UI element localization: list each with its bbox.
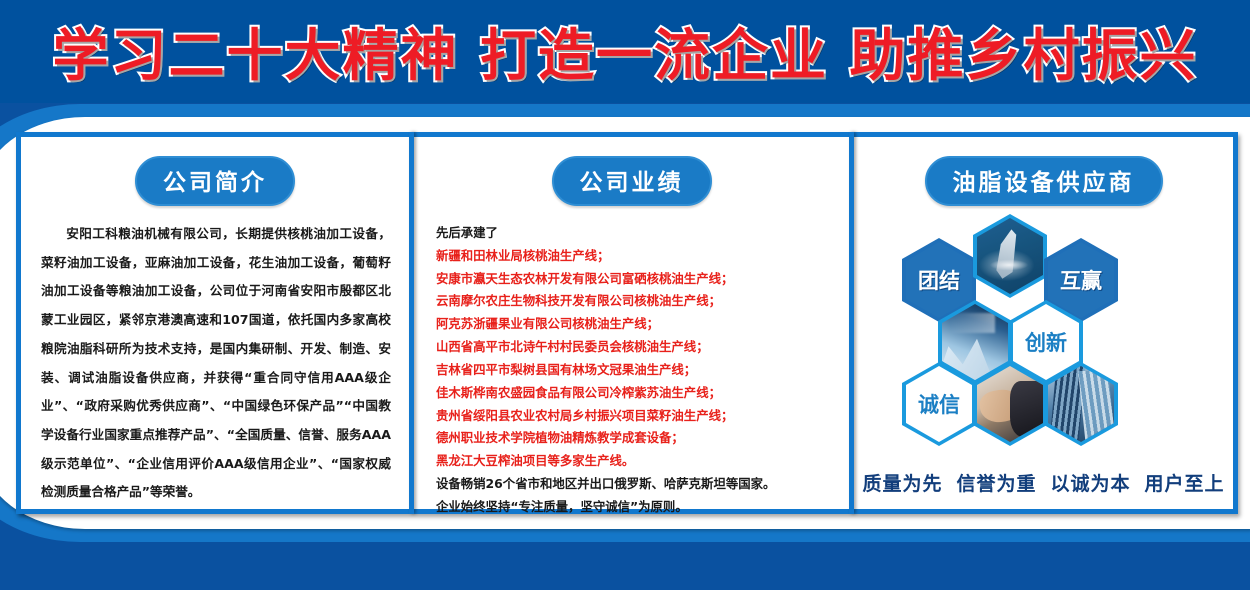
project-line: 佳木斯桦南农盛园食品有限公司冷榨紫苏油生产线；	[436, 382, 839, 405]
slogan-phrase: 用户至上	[1145, 473, 1225, 495]
project-line: 德州职业技术学院植物油精炼教学成套设备；	[436, 427, 839, 450]
panel-company-profile: 公司简介 安阳工科粮油机械有限公司，长期提供核桃油加工设备，菜籽油加工设备，亚麻…	[21, 132, 409, 514]
project-line: 安康市瀛天生态农林开发有限公司富硒核桃油生产线；	[436, 268, 839, 291]
panel-company-performance: 公司业绩 先后承建了 新疆和田林业局核桃油生产线；安康市瀛天生态农林开发有限公司…	[414, 132, 849, 514]
performance-footer-line: 企业始终坚持“专注质量，坚守诚信”为原则。	[436, 496, 839, 519]
header-banner: 学习二十大精神 打造一流企业 助推乡村振兴	[0, 0, 1250, 103]
badge-company-profile: 公司简介	[135, 156, 295, 206]
hexagon-cluster: 团结 互赢 创新 诚信	[854, 216, 1233, 464]
badge-company-performance: 公司业绩	[552, 156, 712, 206]
performance-footer: 设备畅销26个省市和地区并出口俄罗斯、哈萨克斯坦等国家。企业始终坚持“专注质量，…	[436, 473, 839, 519]
badge-row-performance: 公司业绩	[414, 156, 849, 206]
project-line: 黑龙江大豆榨油项目等多家生产线。	[436, 450, 839, 473]
handshake-photo	[977, 366, 1043, 442]
badge-row-profile: 公司简介	[21, 156, 409, 206]
hex-aircraft-carrier-icon	[973, 214, 1047, 298]
hex-inner	[977, 366, 1043, 442]
supplier-slogan: 质量为先信誉为重以诚为本用户至上	[854, 469, 1233, 496]
company-profile-text: 安阳工科粮油机械有限公司，长期提供核桃油加工设备，菜籽油加工设备，亚麻油加工设备…	[41, 220, 391, 507]
page-title: 学习二十大精神 打造一流企业 助推乡村振兴	[53, 11, 1198, 92]
hex-inner	[1048, 366, 1114, 442]
badge-supplier: 油脂设备供应商	[925, 156, 1163, 206]
performance-intro: 先后承建了	[436, 222, 839, 245]
panel-supplier: 油脂设备供应商 团结 互赢 创新	[854, 132, 1233, 514]
hex-inner	[977, 218, 1043, 294]
hex-label: 诚信	[918, 389, 960, 419]
hex-label: 互赢	[1060, 265, 1102, 295]
project-line: 阿克苏浙疆果业有限公司核桃油生产线；	[436, 313, 839, 336]
slogan-phrase: 信誉为重	[956, 473, 1036, 495]
office-towers-photo	[1048, 366, 1114, 442]
success-mountain-photo	[942, 304, 1008, 380]
company-performance-text: 先后承建了 新疆和田林业局核桃油生产线；安康市瀛天生态农林开发有限公司富硒核桃油…	[436, 222, 839, 519]
project-line: 云南摩尔农庄生物科技开发有限公司核桃油生产线；	[436, 290, 839, 313]
project-line: 新疆和田林业局核桃油生产线；	[436, 245, 839, 268]
slogan-phrase: 以诚为本	[1051, 473, 1131, 495]
poster-root: 学习二十大精神 打造一流企业 助推乡村振兴 公司简介 安阳工科粮油机械有限公司，…	[0, 0, 1250, 590]
project-list: 新疆和田林业局核桃油生产线；安康市瀛天生态农林开发有限公司富硒核桃油生产线；云南…	[436, 245, 839, 473]
badge-row-supplier: 油脂设备供应商	[854, 156, 1233, 206]
project-line: 贵州省绥阳县农业农村局乡村振兴项目菜籽油生产线；	[436, 405, 839, 428]
project-line: 吉林省四平市梨树县国有林场文冠果油生产线；	[436, 359, 839, 382]
performance-footer-line: 设备畅销26个省市和地区并出口俄罗斯、哈萨克斯坦等国家。	[436, 473, 839, 496]
hex-label: 团结	[918, 265, 960, 295]
hex-label: 创新	[1025, 327, 1067, 357]
slogan-phrase: 质量为先	[862, 473, 942, 495]
project-line: 山西省高平市北诗午村村民委员会核桃油生产线；	[436, 336, 839, 359]
aircraft-carrier-photo	[977, 218, 1043, 294]
hex-inner	[942, 304, 1008, 380]
